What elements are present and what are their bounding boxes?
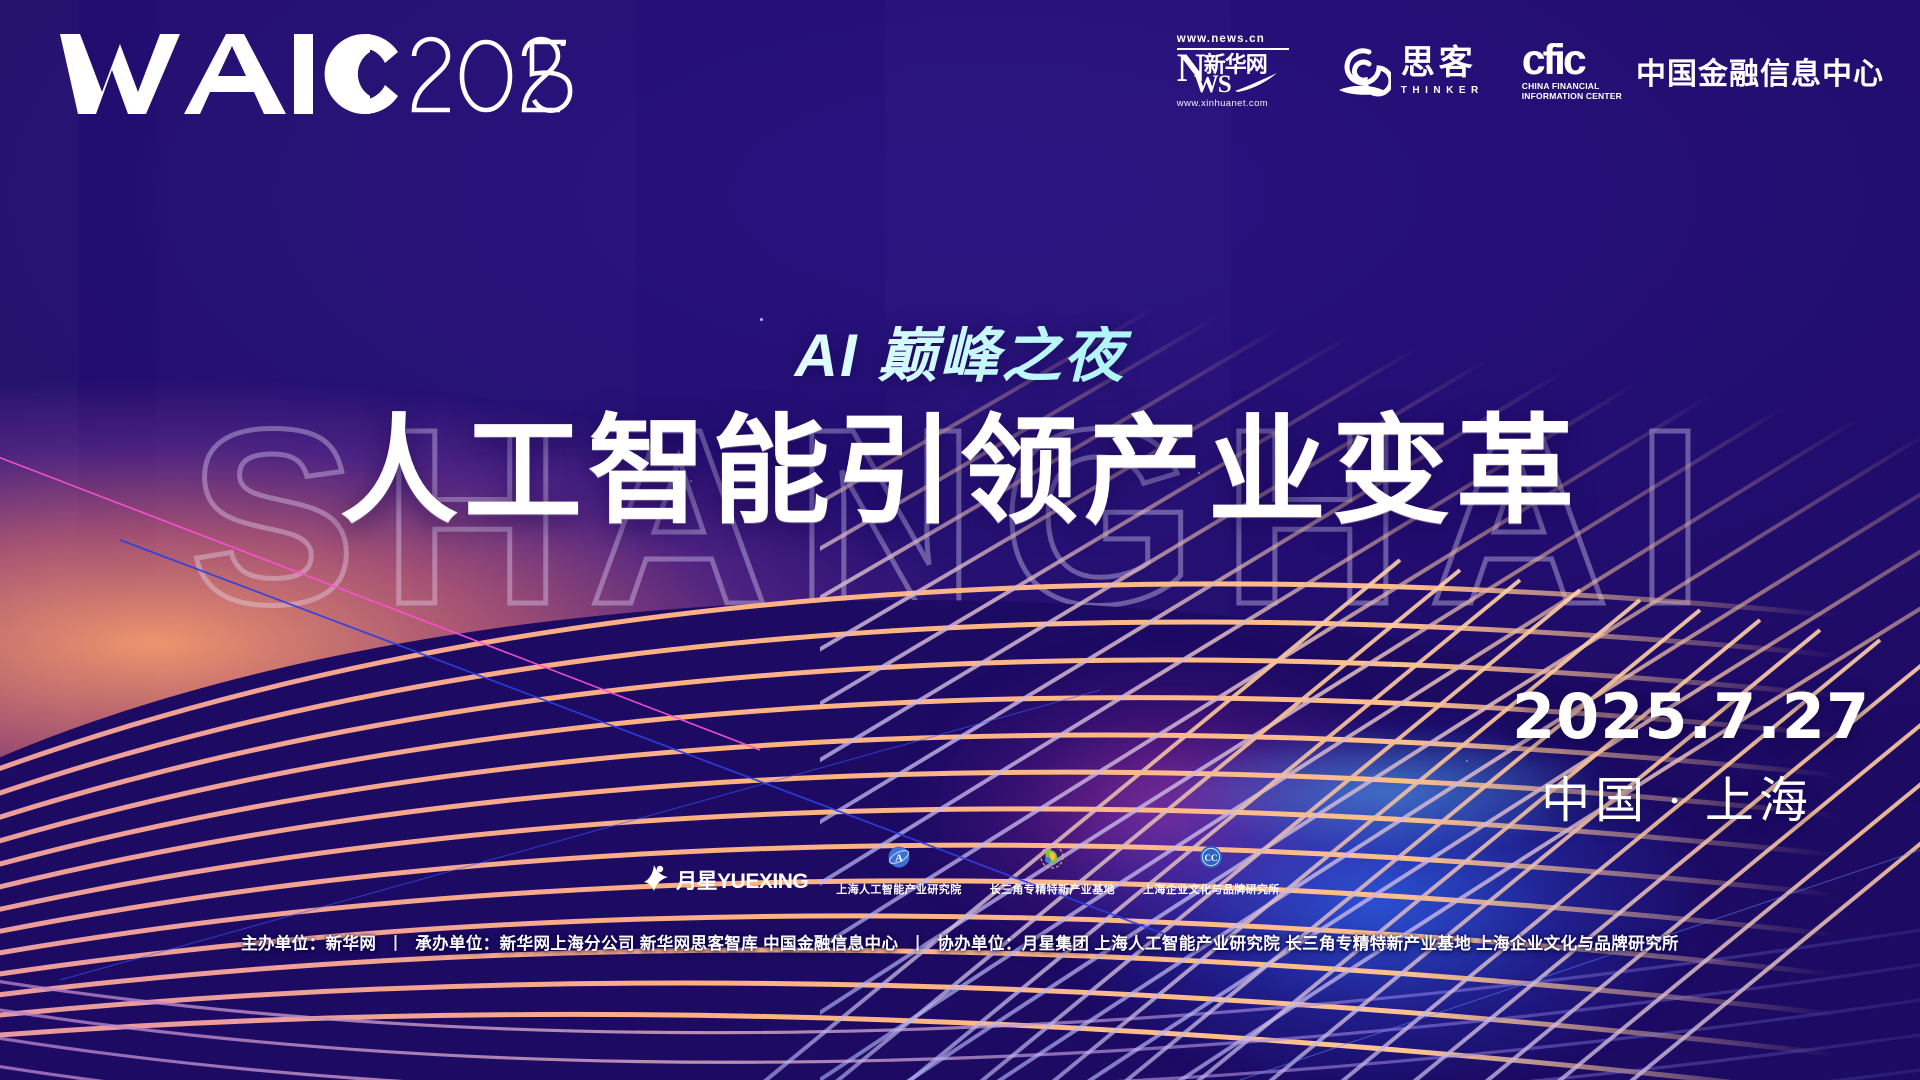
sparkle-dot: [1392, 664, 1395, 667]
sponsor-logos: www.news.cn N 新华网 WS www.xinhuanet.com: [1177, 34, 1884, 108]
yrd-base-name: 长三角专精特新产业基地: [990, 881, 1115, 897]
cfic-cn: 中国金融信息中心: [1636, 49, 1884, 93]
sponsor-thinker: 思客 THINKER: [1335, 40, 1484, 103]
partner-logo-row: 月星YUEXING A 上海人工智能产业研究院: [0, 843, 1920, 897]
thinker-swirl-icon: [1335, 40, 1391, 103]
thinker-cn: 思客: [1401, 47, 1484, 81]
footer-separator: 丨: [381, 935, 410, 953]
event-kicker: AI 巅峰之夜: [0, 326, 1920, 386]
footer-credits: 主办单位：新华网 丨 承办单位：新华网上海分公司 新华网思客智库 中国金融信息中…: [0, 930, 1920, 954]
thinker-en: THINKER: [1401, 85, 1484, 96]
event-headline: 人工智能引领产业变革: [0, 410, 1920, 535]
cfic-sub-line2: INFORMATION CENTER: [1522, 91, 1622, 101]
cfic-wordmark: cfic: [1522, 41, 1622, 80]
yuexing-name: 月星YUEXING: [676, 865, 808, 895]
partner-yrd-base: 长三角专精特新产业基地: [990, 843, 1115, 897]
xinhua-swoosh-icon: [1234, 72, 1278, 97]
saiir-globe-icon: A: [884, 843, 914, 878]
sponsor-xinhua: www.news.cn N 新华网 WS www.xinhuanet.com: [1177, 34, 1297, 108]
sponsor-cfic: cfic CHINA FINANCIAL INFORMATION CENTER …: [1522, 41, 1884, 101]
scbri-name: 上海企业文化与品牌研究所: [1143, 881, 1280, 897]
footer-segment-coorganizer: 协办单位：月星集团 上海人工智能产业研究院 长三角专精特新产业基地 上海企业文化…: [937, 935, 1679, 953]
partner-saiir: A 上海人工智能产业研究院: [836, 843, 961, 897]
svg-text:A: A: [895, 853, 903, 865]
waic-2025-logo: [58, 30, 578, 116]
sparkle-dot: [1466, 760, 1468, 762]
saiir-name: 上海人工智能产业研究院: [836, 881, 961, 897]
footer-separator: 丨: [903, 935, 932, 953]
yuexing-star-icon: [640, 862, 670, 897]
partner-scbri: CC 上海企业文化与品牌研究所: [1143, 843, 1280, 897]
xinhua-url-bottom: www.xinhuanet.com: [1177, 98, 1297, 109]
event-place: 中国 · 上海: [1512, 776, 1842, 825]
event-date-block: 2025.7.27 中国 · 上海: [1512, 686, 1842, 825]
yrd-base-emblem-icon: [1037, 843, 1067, 878]
partner-yuexing: 月星YUEXING: [640, 862, 808, 897]
cfic-sub-line1: CHINA FINANCIAL: [1522, 81, 1622, 91]
event-date: 2025.7.27: [1512, 686, 1842, 748]
header: www.news.cn N 新华网 WS www.xinhuanet.com: [0, 0, 1920, 140]
scbri-seal-icon: CC: [1196, 843, 1226, 878]
poster-canvas: SHANGHAI: [0, 0, 1920, 1080]
xinhua-mark-letters2: WS: [1194, 71, 1231, 99]
sparkle-dot: [1300, 642, 1302, 644]
footer-segment-organizer: 承办单位：新华网上海分公司 新华网思客智库 中国金融信息中心: [415, 935, 898, 953]
footer-segment-host: 主办单位：新华网: [241, 935, 376, 953]
sparkle-dot: [760, 318, 763, 321]
svg-text:CC: CC: [1205, 853, 1218, 863]
